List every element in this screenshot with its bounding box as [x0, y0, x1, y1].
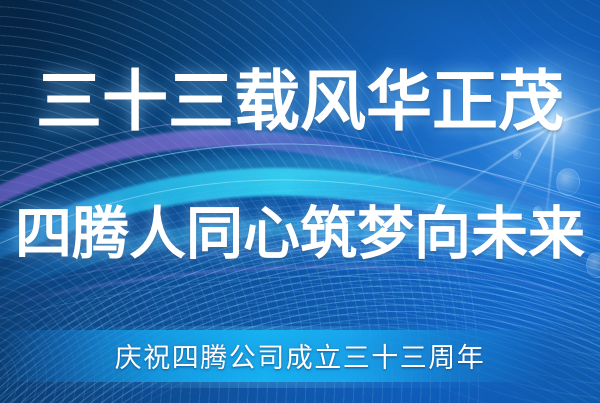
poster-subtitle: 庆祝四腾公司成立三十三周年: [0, 341, 600, 375]
poster-content: 三十三载风华正茂 四腾人同心筑梦向未来 庆祝四腾公司成立三十三周年: [0, 0, 600, 403]
headline-line-2: 四腾人同心筑梦向未来: [0, 200, 600, 268]
headline-line-1: 三十三载风华正茂: [0, 62, 600, 140]
anniversary-poster: 三十三载风华正茂 四腾人同心筑梦向未来 庆祝四腾公司成立三十三周年: [0, 0, 600, 403]
